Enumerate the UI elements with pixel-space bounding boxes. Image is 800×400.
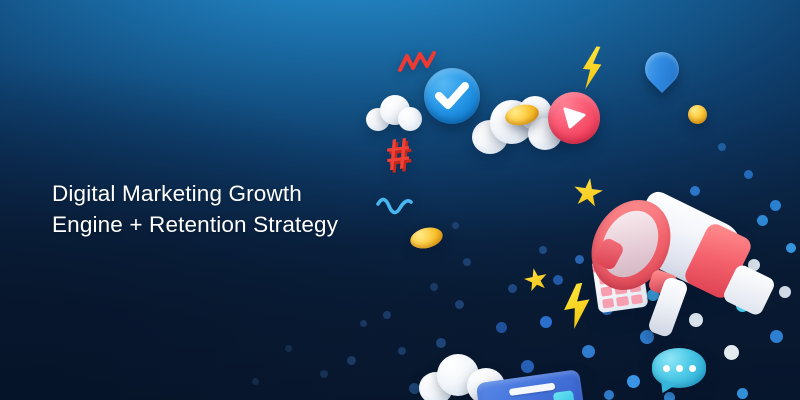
bolt-top-icon: [576, 45, 608, 92]
verified-check-icon: [424, 68, 480, 124]
cloud-small-icon: [366, 95, 422, 131]
coin-mid-icon: [408, 224, 445, 251]
coin-right-icon: [688, 105, 707, 124]
play-button-icon: [548, 92, 600, 144]
megaphone-icon: [588, 182, 800, 352]
chat-bubble-cyan-icon: [652, 348, 706, 388]
checkmark-glyph: [435, 82, 469, 110]
star-small-icon: [522, 266, 550, 294]
marketing-banner: #: [0, 0, 800, 400]
card-badge-icon: [553, 390, 575, 400]
hashtag-icon: #: [383, 132, 413, 179]
page-title: Digital Marketing Growth Engine + Retent…: [52, 178, 338, 240]
location-pin-icon: [638, 45, 686, 93]
play-triangle-glyph: [561, 106, 587, 130]
squiggle-blue-icon: [374, 196, 416, 224]
